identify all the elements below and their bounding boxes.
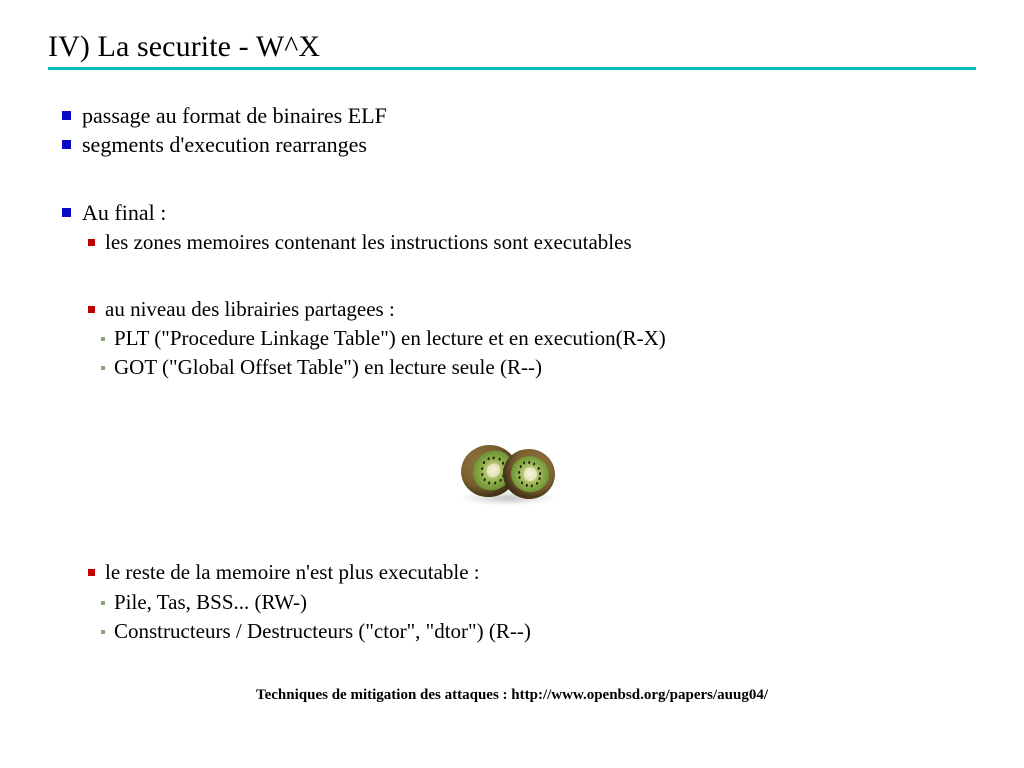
- list-item-label: PLT ("Procedure Linkage Table") en lectu…: [114, 326, 666, 351]
- list-item: GOT ("Global Offset Table") en lecture s…: [101, 355, 542, 380]
- kiwi-fruit-image: [455, 435, 560, 513]
- blue-square-bullet-icon: [62, 208, 71, 217]
- title-divider: [48, 67, 976, 70]
- kiwi-flesh: [509, 454, 551, 494]
- list-item-label: passage au format de binaires ELF: [82, 103, 387, 129]
- footer-reference: Techniques de mitigation des attaques : …: [0, 685, 1024, 705]
- list-item: PLT ("Procedure Linkage Table") en lectu…: [101, 326, 666, 351]
- page-title: IV) La securite - W^X: [48, 28, 320, 66]
- list-item-label: Constructeurs / Destructeurs ("ctor", "d…: [114, 619, 531, 644]
- red-square-bullet-icon: [88, 306, 95, 313]
- list-item-label: le reste de la memoire n'est plus execut…: [105, 560, 480, 585]
- list-item: passage au format de binaires ELF: [62, 103, 387, 129]
- list-item-label: au niveau des librairies partagees :: [105, 297, 395, 322]
- green-dot-bullet-icon: [101, 337, 105, 341]
- slide: IV) La securite - W^X passage au format …: [0, 0, 1024, 768]
- blue-square-bullet-icon: [62, 111, 71, 120]
- list-item: Pile, Tas, BSS... (RW-): [101, 590, 307, 615]
- list-item: au niveau des librairies partagees :: [88, 297, 395, 322]
- green-dot-bullet-icon: [101, 630, 105, 634]
- list-item: Au final :: [62, 200, 166, 226]
- list-item: le reste de la memoire n'est plus execut…: [88, 560, 480, 585]
- green-dot-bullet-icon: [101, 601, 105, 605]
- blue-square-bullet-icon: [62, 140, 71, 149]
- kiwi-seeds: [509, 454, 551, 494]
- list-item-label: Au final :: [82, 200, 166, 226]
- red-square-bullet-icon: [88, 569, 95, 576]
- list-item-label: Pile, Tas, BSS... (RW-): [114, 590, 307, 615]
- list-item: segments d'execution rearranges: [62, 132, 367, 158]
- list-item-label: les zones memoires contenant les instruc…: [105, 230, 632, 255]
- list-item: Constructeurs / Destructeurs ("ctor", "d…: [101, 619, 531, 644]
- list-item-label: GOT ("Global Offset Table") en lecture s…: [114, 355, 542, 380]
- list-item-label: segments d'execution rearranges: [82, 132, 367, 158]
- red-square-bullet-icon: [88, 239, 95, 246]
- green-dot-bullet-icon: [101, 366, 105, 370]
- list-item: les zones memoires contenant les instruc…: [88, 230, 632, 255]
